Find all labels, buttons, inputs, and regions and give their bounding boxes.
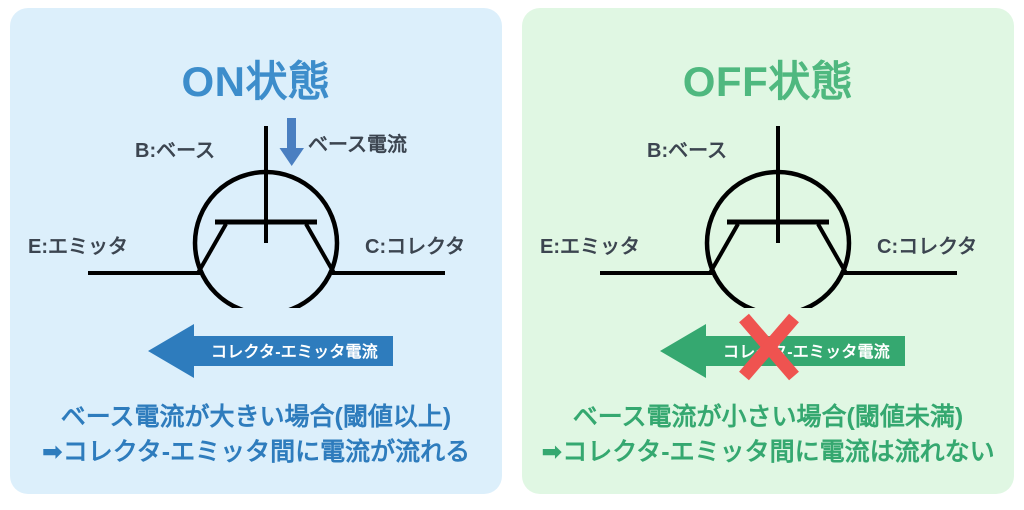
- label-base-current-on: ベース電流: [308, 128, 407, 157]
- base-current-arrow-icon: [276, 118, 308, 170]
- caption-off-line1: ベース電流が小さい場合(閾値未満): [522, 400, 1014, 435]
- label-base-on: B:ベース: [135, 134, 215, 163]
- caption-on: ベース電流が大きい場合(閾値以上) ➡コレクタ-エミッタ間に電流が流れる: [10, 400, 502, 469]
- label-base-off: B:ベース: [647, 134, 727, 163]
- collector-emitter-current-arrow-on: コレクタ-エミッタ電流: [148, 324, 393, 378]
- label-collector-off: C:コレクタ: [877, 230, 977, 259]
- panel-on-title: ON状態: [10, 58, 502, 106]
- transistor-schematic-on: [10, 108, 502, 308]
- collector-emitter-current-label-on: コレクタ-エミッタ電流: [196, 338, 393, 362]
- transistor-schematic-off: [522, 108, 1014, 308]
- panel-off-state: OFF状態 B:ベース E:エミッタ C:コレクタ コレクタ-エ: [522, 8, 1014, 494]
- panel-off-title: OFF状態: [522, 58, 1014, 106]
- panel-on-state: ON状態: [10, 8, 502, 494]
- caption-on-line1: ベース電流が大きい場合(閾値以上): [10, 400, 502, 435]
- no-current-cross-icon: [737, 311, 801, 383]
- label-emitter-on: E:エミッタ: [28, 230, 128, 259]
- caption-on-line2: ➡コレクタ-エミッタ間に電流が流れる: [10, 435, 502, 470]
- caption-off: ベース電流が小さい場合(閾値未満) ➡コレクタ-エミッタ間に電流は流れない: [522, 400, 1014, 469]
- label-emitter-off: E:エミッタ: [540, 230, 640, 259]
- diagram-root: ON状態: [0, 0, 1024, 510]
- caption-off-line2: ➡コレクタ-エミッタ間に電流は流れない: [522, 435, 1014, 470]
- label-collector-on: C:コレクタ: [365, 230, 465, 259]
